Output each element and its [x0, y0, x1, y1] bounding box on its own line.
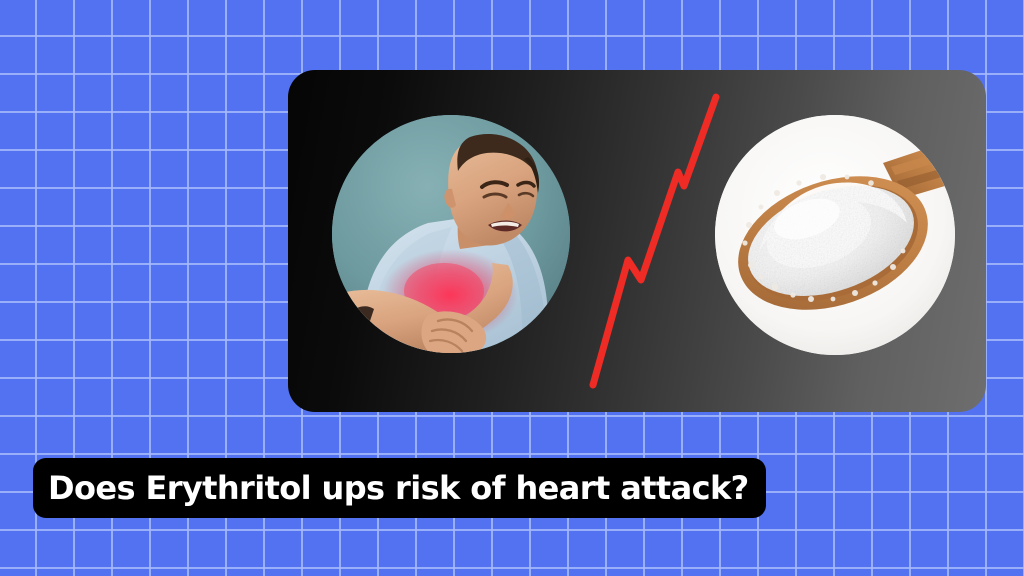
thumbnail-canvas: Does Erythritol ups risk of heart attack…	[0, 0, 1024, 576]
man-clutching-chest-photo	[332, 115, 570, 353]
media-panel	[288, 70, 986, 412]
caption-banner: Does Erythritol ups risk of heart attack…	[33, 458, 766, 518]
erythritol-powder-photo	[715, 115, 955, 355]
caption-text: Does Erythritol ups risk of heart attack…	[48, 472, 749, 504]
